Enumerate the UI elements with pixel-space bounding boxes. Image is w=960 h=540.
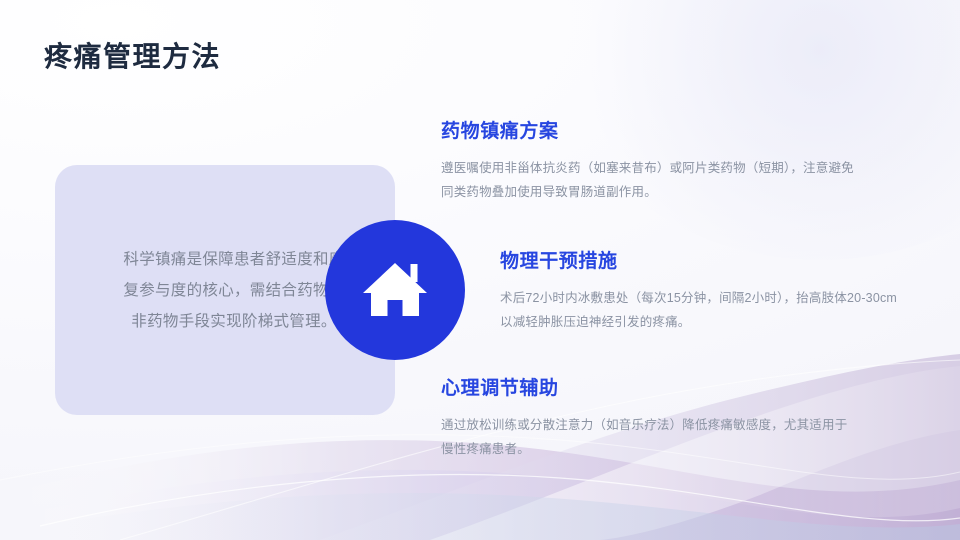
content-block-physical: 物理干预措施 术后72小时内冰敷患处（每次15分钟，间隔2小时），抬高肢体20-…: [500, 250, 900, 335]
content-block-body: 术后72小时内冰敷患处（每次15分钟，间隔2小时），抬高肢体20-30cm以减轻…: [500, 286, 900, 335]
content-block-body: 通过放松训练或分散注意力（如音乐疗法）降低疼痛敏感度，尤其适用于慢性疼痛患者。: [441, 413, 859, 462]
slide-canvas: 疼痛管理方法 科学镇痛是保障患者舒适度和康复参与度的核心，需结合药物与非药物手段…: [0, 0, 960, 540]
summary-card-text: 科学镇痛是保障患者舒适度和康复参与度的核心，需结合药物与非药物手段实现阶梯式管理…: [118, 244, 350, 337]
content-block-psychological: 心理调节辅助 通过放松训练或分散注意力（如音乐疗法）降低疼痛敏感度，尤其适用于慢…: [441, 377, 859, 462]
content-block-body: 遵医嘱使用非甾体抗炎药（如塞来昔布）或阿片类药物（短期），注意避免同类药物叠加使…: [441, 156, 859, 205]
content-block-medication: 药物镇痛方案 遵医嘱使用非甾体抗炎药（如塞来昔布）或阿片类药物（短期），注意避免…: [441, 120, 859, 205]
home-icon: [362, 260, 428, 320]
page-title: 疼痛管理方法: [44, 40, 221, 74]
content-block-title: 物理干预措施: [500, 250, 900, 274]
content-block-title: 心理调节辅助: [441, 377, 859, 401]
home-icon-badge: [325, 220, 465, 360]
content-block-title: 药物镇痛方案: [441, 120, 859, 144]
